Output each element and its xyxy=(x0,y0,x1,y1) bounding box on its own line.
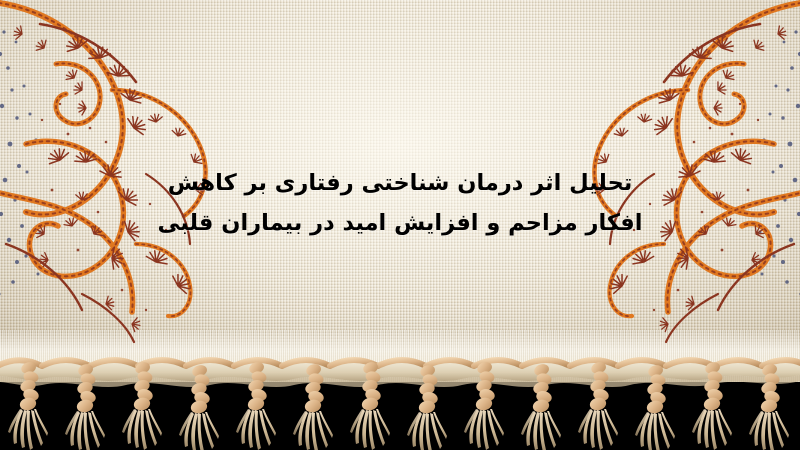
title-card: تحلیل اثر درمان شناختی رفتاری بر کاهش اف… xyxy=(0,0,800,450)
page-title: تحلیل اثر درمان شناختی رفتاری بر کاهش اف… xyxy=(0,163,800,243)
title-line-1: تحلیل اثر درمان شناختی رفتاری بر کاهش xyxy=(0,163,800,203)
title-line-2: افکار مزاحم و افزایش امید در بیماران قلب… xyxy=(0,203,800,243)
knotted-tassel-fringe xyxy=(0,352,800,450)
